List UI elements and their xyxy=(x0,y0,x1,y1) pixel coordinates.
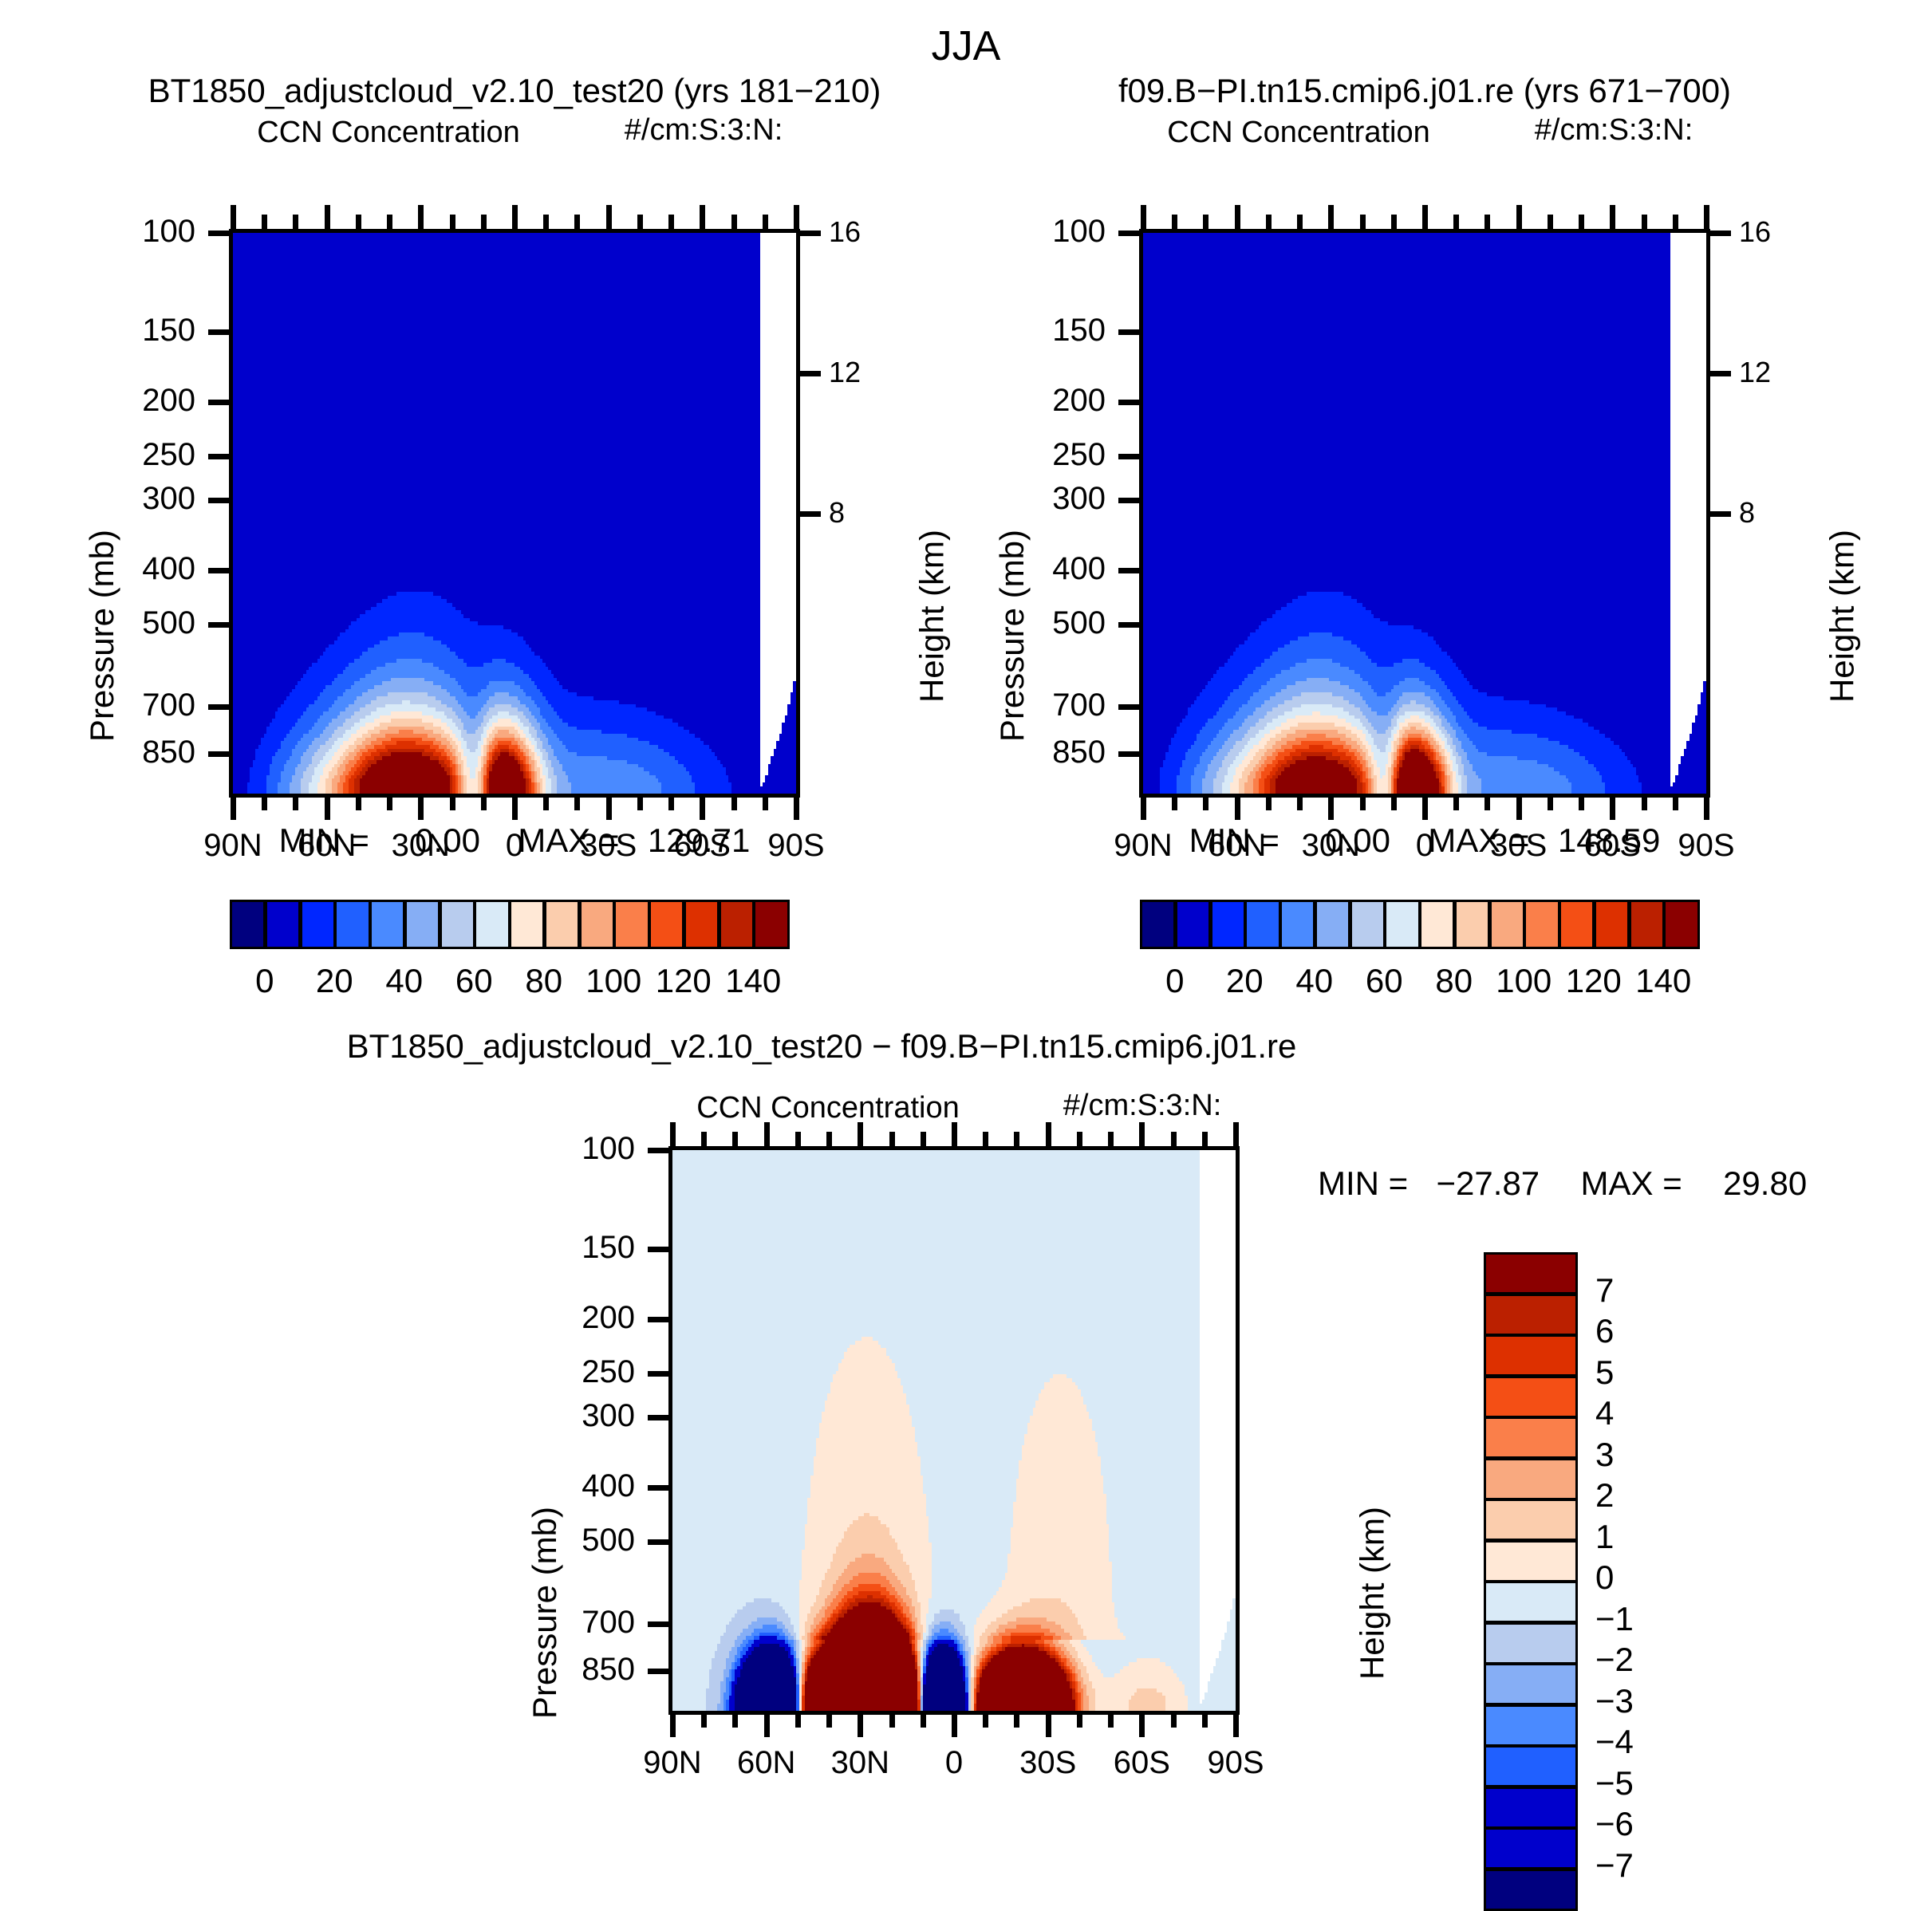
panel-right-lat-tick-label: 60N xyxy=(1208,828,1266,864)
panel-left-lat-tick xyxy=(512,796,518,820)
panel-diff-pressure-tick xyxy=(648,1148,670,1153)
plot-area-left xyxy=(229,229,800,798)
colorbar-main-right-swatch xyxy=(1279,900,1315,949)
panel-diff-lat-tick-top xyxy=(732,1132,738,1148)
panel-right-pressure-tick xyxy=(1118,498,1141,503)
panel-right-pressure-tick-label: 150 xyxy=(1052,313,1106,349)
panel-left-lat-tick-top xyxy=(574,215,580,231)
panel-diff-lat-tick-top xyxy=(826,1132,832,1148)
panel-left-lat-tick-top xyxy=(387,215,392,231)
panel-diff-lat-tick-top xyxy=(1202,1132,1208,1148)
panel-diff-lat-tick-top xyxy=(889,1132,895,1148)
panel-left-lat-tick xyxy=(763,796,768,810)
colorbar-main-right-tick-label: 140 xyxy=(1635,962,1691,1000)
panel-right-lat-tick-top xyxy=(1203,215,1208,231)
colorbar-diff-swatch xyxy=(1484,1417,1578,1459)
colorbar-main-right-tick-label: 80 xyxy=(1435,962,1473,1000)
panel-left-pressure-tick xyxy=(208,231,231,236)
colorbar-main-left-tick-label: 0 xyxy=(255,962,274,1000)
panel-diff-title: BT1850_adjustcloud_v2.10_test20 − f09.B−… xyxy=(347,1027,1297,1066)
panel-left-lat-tick-top xyxy=(481,215,487,231)
panel-right-lat-tick xyxy=(1360,796,1366,810)
colorbar-diff-tick-label: 7 xyxy=(1595,1271,1614,1310)
panel-left-pressure-tick xyxy=(208,622,231,628)
colorbar-diff-swatch xyxy=(1484,1540,1578,1582)
colorbar-main-left-swatch xyxy=(265,900,301,949)
panel-left-variable-label: CCN Concentration xyxy=(257,116,519,150)
panel-diff-pressure-tick xyxy=(648,1485,670,1491)
colorbar-main-left-swatch xyxy=(300,900,336,949)
panel-left-pressure-tick-label: 250 xyxy=(142,437,195,473)
panel-diff-lat-tick-label: 60N xyxy=(737,1745,795,1781)
panel-right-variable-label: CCN Concentration xyxy=(1167,116,1429,150)
panel-left-lat-tick xyxy=(574,796,580,810)
panel-diff-lat-tick xyxy=(826,1713,832,1728)
panel-right-lat-tick-top xyxy=(1266,215,1272,231)
panel-right-height-tick xyxy=(1709,511,1731,517)
colorbar-main-right-swatch xyxy=(1419,900,1455,949)
panel-diff-units-label: #/cm:S:3:N: xyxy=(1063,1089,1222,1123)
panel-left-pressure-tick-label: 500 xyxy=(142,605,195,641)
panel-diff-lat-tick-top xyxy=(1171,1132,1177,1148)
panel-diff-lat-tick xyxy=(858,1713,863,1737)
panel-diff-lat-tick-label: 90N xyxy=(643,1745,701,1781)
panel-diff-lat-tick xyxy=(983,1713,988,1728)
panel-right-lat-tick-label: 90N xyxy=(1114,828,1172,864)
panel-left-lat-tick-top xyxy=(731,215,737,231)
panel-left-lat-tick-top xyxy=(356,215,361,231)
colorbar-main-left-swatch xyxy=(649,900,684,949)
panel-left-ylabel-height: Height (km) xyxy=(913,530,952,703)
panel-left-lat-tick-top xyxy=(606,205,612,231)
panel-left-pressure-tick xyxy=(208,498,231,503)
colorbar-main-right-swatch xyxy=(1489,900,1525,949)
colorbar-main-right-swatch xyxy=(1175,900,1211,949)
panel-right-lat-tick-top xyxy=(1548,215,1553,231)
colorbar-diff-tick-label: 2 xyxy=(1595,1476,1614,1515)
panel-right-pressure-tick-label: 100 xyxy=(1052,214,1106,250)
colorbar-main-right-swatch xyxy=(1350,900,1386,949)
colorbar-diff-tick-label: 0 xyxy=(1595,1558,1614,1597)
panel-left-lat-tick xyxy=(731,796,737,810)
panel-diff-pressure-tick xyxy=(648,1317,670,1322)
panel-left-ylabel-pressure: Pressure (mb) xyxy=(83,530,121,742)
colorbar-diff-tick-label: −5 xyxy=(1595,1764,1634,1803)
colorbar-main-right-swatch xyxy=(1663,900,1699,949)
panel-left-lat-tick xyxy=(231,796,236,820)
panel-left-pressure-tick-label: 300 xyxy=(142,481,195,517)
panel-left-pressure-tick-label: 150 xyxy=(142,313,195,349)
plotLeft-contour-fill xyxy=(233,233,796,794)
colorbar-main-left-swatch xyxy=(509,900,545,949)
panel-diff-lat-tick-top xyxy=(1139,1122,1145,1148)
panel-right-lat-tick-top xyxy=(1610,205,1615,231)
colorbar-main-left-swatch xyxy=(613,900,649,949)
colorbar-main-left-tick-label: 40 xyxy=(385,962,423,1000)
colorbar-diff-swatch xyxy=(1484,1704,1578,1747)
colorbar-main-left-swatch xyxy=(719,900,755,949)
panel-diff-pressure-tick-label: 250 xyxy=(582,1354,635,1390)
panel-left-lat-tick xyxy=(794,796,799,820)
panel-left-lat-tick-top xyxy=(763,215,768,231)
panel-right-pressure-tick xyxy=(1118,400,1141,405)
panel-right-pressure-tick-label: 300 xyxy=(1052,481,1106,517)
season-title: JJA xyxy=(932,22,1001,70)
panel-diff-lat-tick xyxy=(1171,1713,1177,1728)
panel-diff-lat-tick xyxy=(1046,1713,1051,1737)
colorbar-diff-swatch xyxy=(1484,1376,1578,1418)
colorbar-diff-swatch xyxy=(1484,1787,1578,1829)
panel-right-lat-tick xyxy=(1297,796,1303,810)
panel-left-units-label: #/cm:S:3:N: xyxy=(625,113,783,148)
colorbar-main-left-tick-label: 140 xyxy=(725,962,781,1000)
panel-diff-min-label: MIN = xyxy=(1318,1164,1408,1202)
plotRight-contour-fill xyxy=(1143,233,1706,794)
panel-right-height-tick xyxy=(1709,371,1731,376)
colorbar-main-right-tick-label: 100 xyxy=(1496,962,1552,1000)
panel-diff-pressure-tick-label: 200 xyxy=(582,1300,635,1336)
panel-right-lat-tick-top xyxy=(1141,205,1146,231)
panel-right-height-tick-label: 16 xyxy=(1739,215,1771,249)
panel-left-pressure-tick-label: 100 xyxy=(142,214,195,250)
colorbar-main-left-tick-label: 100 xyxy=(586,962,641,1000)
panel-right-lat-tick xyxy=(1172,796,1177,810)
panel-diff-lat-tick-label: 90S xyxy=(1207,1745,1264,1781)
panel-left-pressure-tick xyxy=(208,751,231,757)
colorbar-main-right-swatch xyxy=(1454,900,1490,949)
panel-right-pressure-tick-label: 250 xyxy=(1052,437,1106,473)
panel-diff-lat-tick-top xyxy=(1077,1132,1082,1148)
panel-right-lat-tick-top xyxy=(1642,215,1647,231)
colorbar-main-left-swatch xyxy=(404,900,440,949)
panel-right-ylabel-pressure: Pressure (mb) xyxy=(993,530,1031,742)
colorbar-diff-tick-label: 5 xyxy=(1595,1353,1614,1392)
colorbar-main-left-tick-label: 60 xyxy=(455,962,493,1000)
panel-right-lat-tick-label: 90S xyxy=(1678,828,1734,864)
panel-left-lat-tick-label: 90N xyxy=(203,828,262,864)
panel-left-height-tick-label: 12 xyxy=(829,356,861,389)
panel-left-lat-tick-label: 60S xyxy=(674,828,731,864)
panel-diff-max-label: MAX = xyxy=(1581,1164,1682,1202)
panel-left-lat-tick-top xyxy=(231,205,236,231)
panel-left-lat-tick xyxy=(637,796,643,810)
panel-right-pressure-tick xyxy=(1118,751,1141,757)
colorbar-main-right-tick-label: 120 xyxy=(1566,962,1622,1000)
colorbar-main-left-swatch xyxy=(684,900,720,949)
panel-left-height-tick-label: 8 xyxy=(829,496,845,530)
panel-diff-lat-tick xyxy=(1014,1713,1019,1728)
panel-right-lat-tick xyxy=(1579,796,1584,810)
colorbar-diff-swatch xyxy=(1484,1334,1578,1377)
panel-right-pressure-tick xyxy=(1118,568,1141,573)
panel-diff-ylabel-pressure: Pressure (mb) xyxy=(526,1507,564,1719)
panel-right-lat-tick xyxy=(1516,796,1522,820)
colorbar-diff-swatch xyxy=(1484,1581,1578,1623)
colorbar-diff-swatch xyxy=(1484,1869,1578,1911)
panel-left-lat-tick-label: 30S xyxy=(580,828,637,864)
colorbar-diff-swatch xyxy=(1484,1294,1578,1336)
panel-right-lat-tick xyxy=(1610,796,1615,820)
colorbar-diff-tick-label: −6 xyxy=(1595,1805,1634,1843)
panel-right-lat-tick-top xyxy=(1579,215,1584,231)
panel-diff-lat-tick xyxy=(732,1713,738,1728)
colorbar-main-left-swatch xyxy=(334,900,370,949)
panel-diff-lat-tick-top xyxy=(670,1122,676,1148)
panel-right-lat-tick-top xyxy=(1391,215,1397,231)
colorbar-diff-swatch xyxy=(1484,1252,1578,1294)
panel-left-lat-tick xyxy=(543,796,549,810)
panel-right-lat-tick-top xyxy=(1453,215,1459,231)
panel-diff-lat-tick-top xyxy=(1014,1132,1019,1148)
panel-right-pressure-tick xyxy=(1118,231,1141,236)
panel-right-lat-tick xyxy=(1422,796,1428,820)
panel-diff-lat-tick xyxy=(670,1713,676,1737)
panel-left-lat-tick xyxy=(293,796,298,810)
panel-diff-lat-tick xyxy=(795,1713,801,1728)
colorbar-main-right-tick-label: 0 xyxy=(1165,962,1184,1000)
panel-right-lat-tick xyxy=(1548,796,1553,810)
panel-diff-pressure-tick-label: 400 xyxy=(582,1468,635,1504)
colorbar-main-left-swatch xyxy=(579,900,615,949)
panel-left-lat-tick-top xyxy=(293,215,298,231)
colorbar-diff-tick-label: −3 xyxy=(1595,1682,1634,1720)
panel-right-pressure-tick-label: 400 xyxy=(1052,551,1106,587)
plot-area-diff xyxy=(668,1146,1240,1715)
panel-right-lat-tick-label: 60S xyxy=(1584,828,1641,864)
panel-diff-min-value: −27.87 xyxy=(1437,1164,1540,1202)
panel-left-lat-tick-top xyxy=(418,205,424,231)
colorbar-main-right-tick-label: 20 xyxy=(1226,962,1264,1000)
panel-right-lat-tick xyxy=(1484,796,1490,810)
panel-right-lat-tick xyxy=(1235,796,1240,820)
panel-left-lat-tick-top xyxy=(262,215,267,231)
panel-left-lat-tick xyxy=(325,796,330,820)
panel-right-lat-tick-top xyxy=(1172,215,1177,231)
panel-right-title: f09.B−PI.tn15.cmip6.j01.re (yrs 671−700) xyxy=(1118,72,1731,110)
panel-diff-lat-tick xyxy=(701,1713,707,1728)
panel-diff-pressure-tick-label: 700 xyxy=(582,1605,635,1641)
panel-right-lat-tick xyxy=(1673,796,1678,810)
colorbar-diff-tick-label: 6 xyxy=(1595,1312,1614,1350)
panel-left-lat-tick xyxy=(606,796,612,820)
panel-diff-pressure-tick xyxy=(648,1539,670,1545)
panel-diff-minmax: MIN = −27.87 MAX = 29.80 xyxy=(1318,1164,1807,1203)
panel-diff-lat-tick xyxy=(921,1713,926,1728)
panel-left-lat-tick-top xyxy=(637,215,643,231)
panel-diff-lat-tick xyxy=(764,1713,770,1737)
panel-right-pressure-tick xyxy=(1118,704,1141,710)
panel-diff-pressure-tick xyxy=(648,1621,670,1627)
panel-right-pressure-tick xyxy=(1118,454,1141,459)
panel-left-lat-tick xyxy=(450,796,455,810)
colorbar-main-right-swatch xyxy=(1524,900,1559,949)
colorbar-main-left-swatch xyxy=(369,900,405,949)
panel-right-height-tick-label: 12 xyxy=(1739,356,1771,389)
colorbar-main-left-swatch xyxy=(440,900,475,949)
panel-right-lat-tick xyxy=(1203,796,1208,810)
plotDiff-contour-fill xyxy=(672,1150,1236,1711)
panel-left-pressure-tick-label: 200 xyxy=(142,383,195,419)
colorbar-diff-swatch xyxy=(1484,1827,1578,1870)
panel-left-pressure-tick-label: 700 xyxy=(142,688,195,723)
panel-right-height-tick-label: 8 xyxy=(1739,496,1755,530)
panel-left-pressure-tick xyxy=(208,400,231,405)
panel-left-lat-tick xyxy=(356,796,361,810)
colorbar-main-left-tick-label: 80 xyxy=(525,962,562,1000)
panel-right-lat-tick-top xyxy=(1516,205,1522,231)
panel-left-title: BT1850_adjustcloud_v2.10_test20 (yrs 181… xyxy=(148,72,881,110)
panel-diff-pressure-tick xyxy=(648,1247,670,1252)
panel-right-ylabel-height: Height (km) xyxy=(1824,530,1862,703)
colorbar-main-left-swatch xyxy=(544,900,580,949)
panel-diff-lat-tick xyxy=(952,1713,957,1737)
panel-diff-pressure-tick xyxy=(648,1415,670,1420)
colorbar-diff-swatch xyxy=(1484,1499,1578,1541)
panel-diff-pressure-tick-label: 500 xyxy=(582,1523,635,1558)
panel-right-lat-tick-top xyxy=(1673,215,1678,231)
panel-diff-lat-tick-top xyxy=(1108,1132,1114,1148)
panel-diff-lat-tick-top xyxy=(701,1132,707,1148)
panel-right-pressure-tick-label: 200 xyxy=(1052,383,1106,419)
panel-right-lat-tick-top xyxy=(1360,215,1366,231)
panel-right-lat-tick xyxy=(1704,796,1709,820)
colorbar-main-left-swatch xyxy=(753,900,789,949)
plot-area-right xyxy=(1139,229,1710,798)
panel-diff-lat-tick-top xyxy=(1046,1122,1051,1148)
panel-right-pressure-tick-label: 700 xyxy=(1052,688,1106,723)
panel-diff-lat-tick xyxy=(889,1713,895,1728)
panel-right-lat-tick-top xyxy=(1704,205,1709,231)
panel-left-lat-tick xyxy=(262,796,267,810)
colorbar-main-right-swatch xyxy=(1594,900,1630,949)
panel-left-lat-tick xyxy=(668,796,674,810)
panel-right-height-tick xyxy=(1709,231,1731,236)
panel-right-lat-tick xyxy=(1391,796,1397,810)
colorbar-main-right-swatch xyxy=(1315,900,1350,949)
panel-left-lat-tick-top xyxy=(325,205,330,231)
colorbar-diff-swatch xyxy=(1484,1622,1578,1665)
panel-left-lat-tick-label: 60N xyxy=(298,828,356,864)
panel-left-lat-tick xyxy=(481,796,487,810)
panel-right-lat-tick-label: 0 xyxy=(1416,828,1433,864)
colorbar-main-right-swatch xyxy=(1244,900,1280,949)
panel-diff-lat-tick-top xyxy=(795,1132,801,1148)
colorbar-main-right-swatch xyxy=(1629,900,1665,949)
panel-diff-pressure-tick xyxy=(648,1371,670,1377)
panel-diff-pressure-tick-label: 150 xyxy=(582,1230,635,1266)
colorbar-diff-swatch xyxy=(1484,1663,1578,1705)
colorbar-diff-tick-label: −4 xyxy=(1595,1723,1634,1761)
panel-left-lat-tick-top xyxy=(668,215,674,231)
panel-right-pressure-tick-label: 500 xyxy=(1052,605,1106,641)
colorbar-main-left-tick-label: 120 xyxy=(656,962,712,1000)
panel-diff-lat-tick xyxy=(1202,1713,1208,1728)
panel-diff-lat-tick-label: 0 xyxy=(945,1745,963,1781)
panel-left-pressure-tick-label: 850 xyxy=(142,735,195,770)
panel-left-pressure-tick-label: 400 xyxy=(142,551,195,587)
colorbar-main-right-swatch xyxy=(1140,900,1176,949)
colorbar-diff-swatch xyxy=(1484,1745,1578,1787)
panel-diff-lat-tick-label: 60S xyxy=(1114,1745,1170,1781)
colorbar-diff-tick-label: −1 xyxy=(1595,1600,1634,1638)
colorbar-main-right-tick-label: 60 xyxy=(1366,962,1403,1000)
panel-left-lat-tick-top xyxy=(450,215,455,231)
colorbar-main-right-tick-label: 40 xyxy=(1295,962,1333,1000)
panel-left-lat-tick xyxy=(387,796,392,810)
panel-left-lat-tick xyxy=(700,796,705,820)
panel-right-lat-tick-top xyxy=(1484,215,1490,231)
colorbar-main-left-swatch xyxy=(230,900,266,949)
panel-left-height-tick xyxy=(798,231,821,236)
panel-left-pressure-tick xyxy=(208,568,231,573)
panel-diff-lat-tick-top xyxy=(1233,1122,1239,1148)
colorbar-diff-tick-label: −7 xyxy=(1595,1846,1634,1885)
panel-right-pressure-tick xyxy=(1118,622,1141,628)
panel-left-lat-tick-label: 0 xyxy=(506,828,523,864)
panel-right-lat-tick-top xyxy=(1235,205,1240,231)
colorbar-main-right-swatch xyxy=(1559,900,1595,949)
colorbar-diff-tick-label: 4 xyxy=(1595,1394,1614,1432)
panel-diff-lat-tick-label: 30S xyxy=(1019,1745,1076,1781)
panel-right-pressure-tick-label: 850 xyxy=(1052,735,1106,770)
panel-diff-pressure-tick-label: 850 xyxy=(582,1652,635,1688)
panel-right-lat-tick xyxy=(1266,796,1272,810)
panel-left-height-tick-label: 16 xyxy=(829,215,861,249)
panel-left-height-tick xyxy=(798,511,821,517)
colorbar-diff-swatch xyxy=(1484,1458,1578,1500)
panel-diff-ylabel-height: Height (km) xyxy=(1354,1507,1392,1680)
panel-right-lat-tick-top xyxy=(1297,215,1303,231)
panel-right-lat-tick xyxy=(1642,796,1647,810)
panel-diff-pressure-tick-label: 300 xyxy=(582,1398,635,1434)
panel-diff-lat-tick-top xyxy=(921,1132,926,1148)
panel-diff-lat-tick-top xyxy=(983,1132,988,1148)
panel-right-lat-tick-top xyxy=(1328,205,1334,231)
panel-diff-lat-tick xyxy=(1233,1713,1239,1737)
colorbar-main-left-tick-label: 20 xyxy=(316,962,353,1000)
panel-diff-lat-tick xyxy=(1077,1713,1082,1728)
panel-right-lat-tick-label: 30S xyxy=(1490,828,1547,864)
panel-left-pressure-tick xyxy=(208,454,231,459)
panel-diff-lat-tick xyxy=(1108,1713,1114,1728)
panel-left-lat-tick-label: 90S xyxy=(767,828,824,864)
panel-diff-lat-tick-label: 30N xyxy=(831,1745,889,1781)
panel-right-lat-tick xyxy=(1141,796,1146,820)
panel-diff-variable-label: CCN Concentration xyxy=(696,1091,959,1125)
panel-diff-lat-tick-top xyxy=(764,1122,770,1148)
colorbar-main-right-swatch xyxy=(1210,900,1246,949)
panel-diff-pressure-tick xyxy=(648,1669,670,1674)
colorbar-main-right-swatch xyxy=(1384,900,1420,949)
panel-left-lat-tick-label: 30N xyxy=(392,828,450,864)
panel-left-pressure-tick xyxy=(208,329,231,335)
panel-right-lat-tick xyxy=(1453,796,1459,810)
panel-right-lat-tick-top xyxy=(1422,205,1428,231)
colorbar-diff-tick-label: −2 xyxy=(1595,1641,1634,1679)
panel-left-height-tick xyxy=(798,371,821,376)
panel-diff-pressure-tick-label: 100 xyxy=(582,1131,635,1167)
panel-right-units-label: #/cm:S:3:N: xyxy=(1535,113,1693,148)
panel-left-lat-tick xyxy=(418,796,424,820)
panel-diff-lat-tick xyxy=(1139,1713,1145,1737)
panel-diff-lat-tick-top xyxy=(952,1122,957,1148)
panel-right-pressure-tick xyxy=(1118,329,1141,335)
panel-left-lat-tick-top xyxy=(700,205,705,231)
panel-right-lat-tick-label: 30N xyxy=(1302,828,1360,864)
panel-diff-max-value: 29.80 xyxy=(1723,1164,1807,1202)
panel-left-lat-tick-top xyxy=(543,215,549,231)
colorbar-diff-tick-label: 1 xyxy=(1595,1518,1614,1556)
